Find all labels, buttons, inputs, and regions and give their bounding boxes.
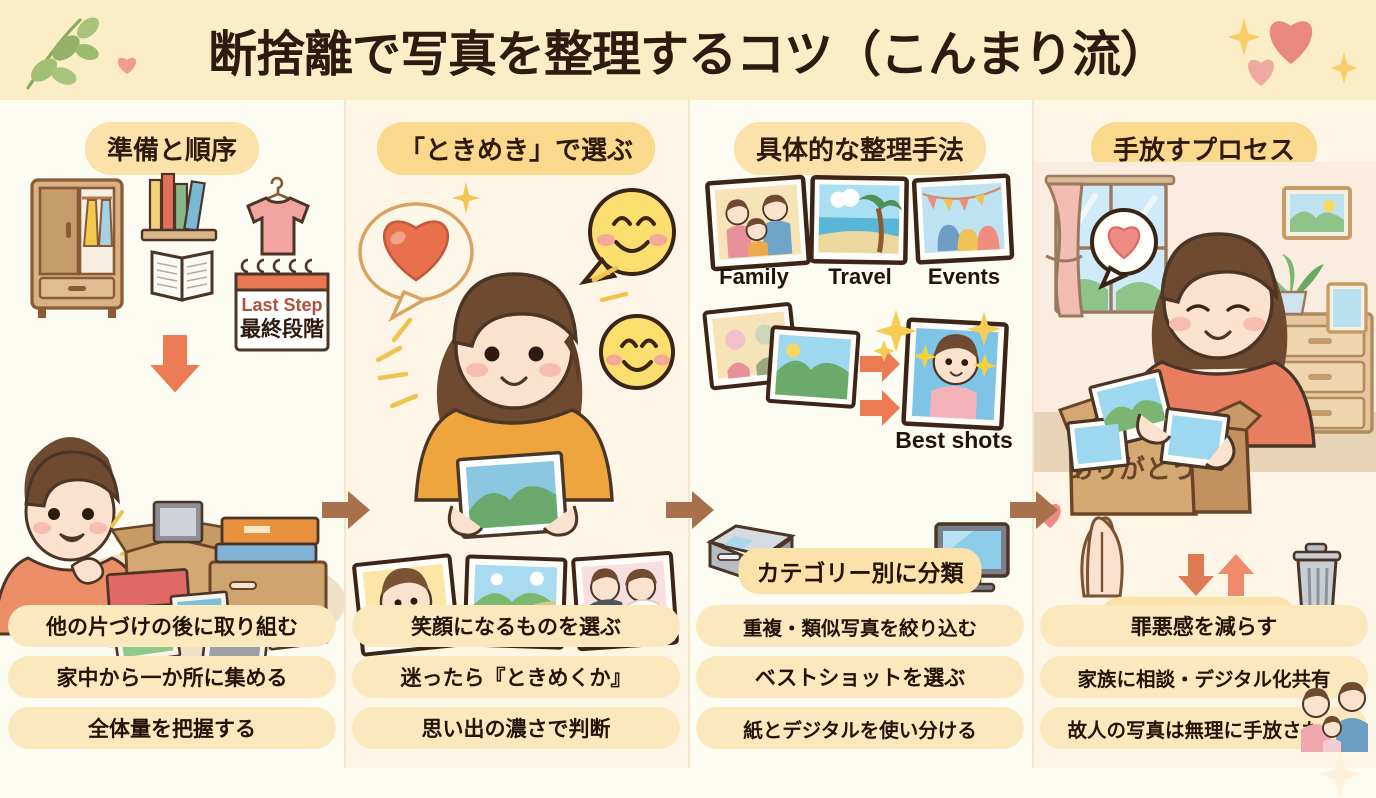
list-item: 家中から一か所に集める	[8, 656, 336, 698]
up-arrow-icon	[1218, 554, 1254, 596]
leaf-branch-icon	[14, 8, 124, 94]
list-item: 全体量を把握する	[8, 707, 336, 749]
column-divider	[344, 100, 346, 768]
wardrobe-icon	[32, 180, 122, 318]
calendar-line1: Last Step	[241, 295, 322, 315]
list-item: ベストショットを選ぶ	[696, 656, 1024, 698]
calendar-icon: Last Step 最終段階	[236, 260, 328, 350]
column-prep: 準備と順序	[0, 100, 344, 768]
list-item: 重複・類似写真を絞り込む	[696, 605, 1024, 647]
category-label-travel: Travel	[828, 264, 892, 289]
column-methods: 具体的な整理手法	[688, 100, 1032, 768]
heart-icon	[1244, 55, 1278, 87]
category-sort-pill: カテゴリー別に分類	[739, 548, 982, 594]
sparkle-icon	[1228, 18, 1260, 56]
list-item: 罪悪感を減らす	[1040, 605, 1368, 647]
sparkle-icon	[452, 182, 480, 214]
column-spark-joy: 「ときめき」で選ぶ	[344, 100, 688, 768]
heart-speech-bubble-icon	[360, 204, 472, 318]
prep-illustration: Last Step 最終段階	[0, 162, 344, 682]
open-book-icon	[152, 252, 212, 300]
tshirt-hanger-icon	[248, 178, 308, 254]
columns-container: 準備と順序	[0, 100, 1376, 768]
spark-joy-pill-list: 笑顔になるものを選ぶ 迷ったら『ときめくか』 思い出の濃さで判断	[352, 605, 680, 758]
list-item: 笑顔になるものを選ぶ	[352, 605, 680, 647]
sparkle-icon	[1318, 750, 1362, 798]
photo-travel	[811, 177, 906, 263]
photo-events	[914, 176, 1012, 263]
woman-holding-photo-illustration	[416, 274, 612, 538]
wall-frame-icon	[1284, 188, 1350, 238]
header-banner: 断捨離で写真を整理するコツ（こんまり流）	[0, 0, 1376, 100]
flow-arrow-icon	[1010, 490, 1058, 530]
sparkle-icon	[1330, 52, 1358, 84]
smiley-face-icon	[601, 316, 673, 388]
column-divider	[688, 100, 690, 768]
column-divider	[1032, 100, 1034, 768]
books-on-shelf-icon	[142, 174, 216, 240]
letting-go-illustration: ありがとう	[1032, 162, 1376, 632]
list-item: 思い出の濃さで判断	[352, 707, 680, 749]
methods-pill-list: 重複・類似写真を絞り込む ベストショットを選ぶ 紙とデジタルを使い分ける	[696, 605, 1024, 758]
praying-hands-icon	[1082, 518, 1122, 596]
best-shot-photo	[903, 320, 1006, 429]
page-title: 断捨離で写真を整理するコツ（こんまり流）	[208, 15, 1168, 86]
spark-joy-illustration	[344, 162, 688, 682]
list-item: 迷ったら『ときめくか』	[352, 656, 680, 698]
small-frame-icon	[1328, 284, 1366, 332]
best-shots-label: Best shots	[895, 427, 1013, 453]
photo-landscape-small	[768, 327, 859, 407]
prep-pill-list: 他の片づけの後に取り組む 家中から一か所に集める 全体量を把握する	[8, 605, 336, 758]
down-arrow-icon	[1178, 554, 1214, 596]
orange-arrow-icon	[860, 346, 900, 426]
category-label-events: Events	[928, 264, 1000, 289]
down-arrow-icon	[148, 334, 202, 394]
category-label-family: Family	[719, 264, 789, 289]
flow-arrow-icon	[322, 490, 370, 530]
trash-can-icon	[1294, 544, 1340, 614]
family-couple-icon	[1290, 682, 1376, 752]
column-letting-go: 手放すプロセス	[1032, 100, 1376, 768]
flow-arrow-icon	[666, 490, 714, 530]
infographic-page: 断捨離で写真を整理するコツ（こんまり流） 準備と順序	[0, 0, 1376, 768]
list-item: 紙とデジタルを使い分ける	[696, 707, 1024, 749]
calendar-line2: 最終段階	[240, 317, 324, 341]
smiley-speech-bubble-icon	[584, 190, 674, 282]
photo-family	[707, 177, 809, 269]
list-item: 他の片づけの後に取り組む	[8, 605, 336, 647]
heart-icon	[116, 55, 138, 75]
